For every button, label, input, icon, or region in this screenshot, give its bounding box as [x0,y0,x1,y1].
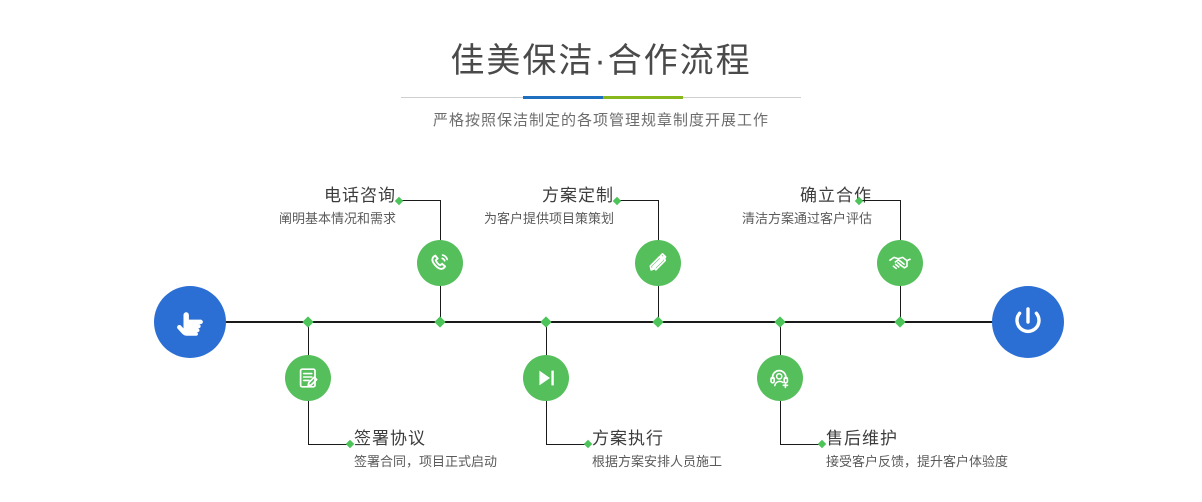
label-marker-step-6 [818,440,826,448]
sign-document-icon [294,364,322,392]
connector-horizontal-step-2 [308,444,350,445]
step-desc-1: 阐明基本情况和需求 [279,207,396,229]
step-title-5: 确立合作 [742,185,872,207]
process-flow-diagram: 电话咨询 阐明基本情况和需求 方案定制 为客户提供项目策策划 [0,0,1202,502]
step-title-4: 方案执行 [592,428,722,450]
label-marker-step-1 [395,197,403,205]
step-icon-4[interactable] [523,355,569,401]
execute-play-icon [532,364,560,392]
axis-marker-2 [434,316,445,327]
step-icon-1[interactable] [417,240,463,286]
label-marker-step-3 [613,197,621,205]
step-label-6: 售后维护 接受客户反馈，提升客户体验度 [826,428,1008,472]
step-desc-5: 清洁方案通过客户评估 [742,207,872,229]
connector-horizontal-step-4 [546,444,588,445]
step-desc-4: 根据方案安排人员施工 [592,450,722,472]
pointing-hand-icon [170,302,210,342]
axis-marker-6 [894,316,905,327]
step-label-2: 签署协议 签署合同，项目正式启动 [354,428,497,472]
step-title-1: 电话咨询 [279,185,396,207]
axis-marker-3 [540,316,551,327]
label-marker-step-2 [346,440,354,448]
customer-service-icon [766,364,794,392]
step-desc-6: 接受客户反馈，提升客户体验度 [826,450,1008,472]
power-icon [1007,301,1049,343]
plan-pencil-icon [644,249,672,277]
connector-horizontal-step-5 [859,200,900,201]
step-label-1: 电话咨询 阐明基本情况和需求 [279,185,396,229]
step-label-4: 方案执行 根据方案安排人员施工 [592,428,722,472]
step-desc-2: 签署合同，项目正式启动 [354,450,497,472]
connector-horizontal-step-3 [617,200,658,201]
axis-marker-4 [652,316,663,327]
handshake-icon [886,249,914,277]
axis-marker-1 [302,316,313,327]
step-title-2: 签署协议 [354,428,497,450]
step-label-3: 方案定制 为客户提供项目策策划 [484,185,614,229]
step-icon-6[interactable] [757,355,803,401]
connector-horizontal-step-1 [399,200,440,201]
step-title-6: 售后维护 [826,428,1008,450]
step-icon-2[interactable] [285,355,331,401]
step-icon-5[interactable] [877,240,923,286]
step-title-3: 方案定制 [484,185,614,207]
label-marker-step-4 [584,440,592,448]
phone-call-icon [426,249,454,277]
step-label-5: 确立合作 清洁方案通过客户评估 [742,185,872,229]
flow-end-node[interactable] [992,286,1064,358]
step-desc-3: 为客户提供项目策策划 [484,207,614,229]
cooperation-process-infographic: 佳美保洁·合作流程 严格按照保洁制定的各项管理规章制度开展工作 [0,0,1202,502]
connector-horizontal-step-6 [780,444,822,445]
flow-start-node[interactable] [154,286,226,358]
step-icon-3[interactable] [635,240,681,286]
axis-marker-5 [774,316,785,327]
